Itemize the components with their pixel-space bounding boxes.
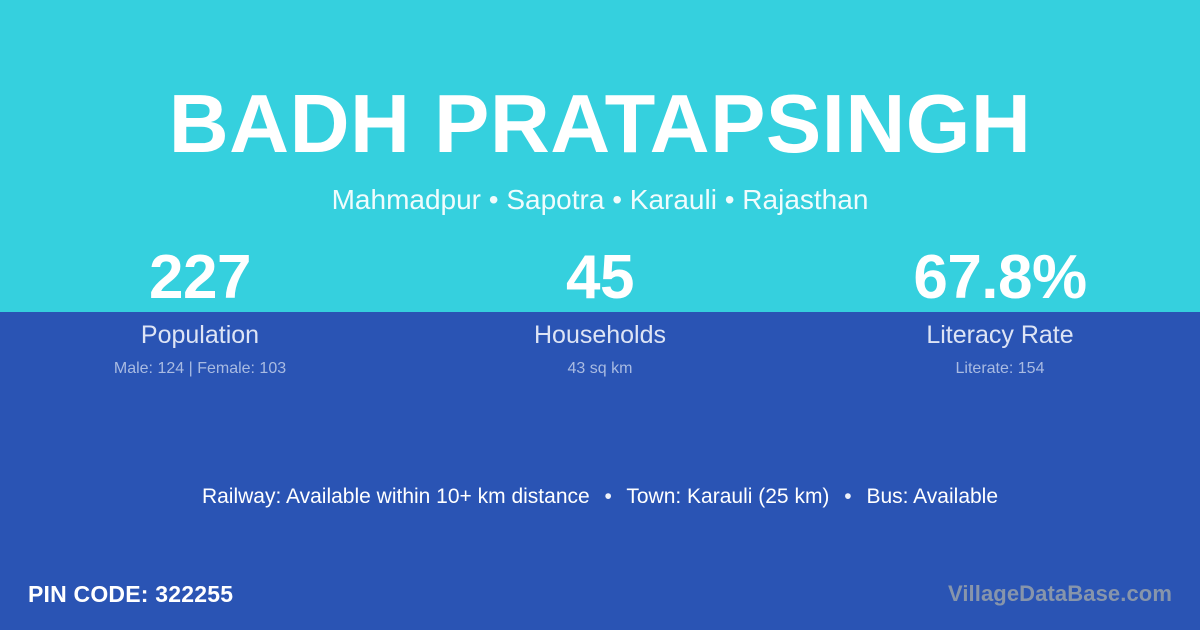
stat-sublabel: Literate: 154 <box>800 360 1200 378</box>
stat-literacy-rate: 67.8% Literacy Rate Literate: 154 <box>800 245 1200 378</box>
amenity-bus: Bus: Available <box>866 485 998 508</box>
page-title: BADH PRATAPSINGH <box>0 82 1200 165</box>
stat-value: 227 <box>0 245 400 312</box>
amenity-separator: • <box>835 485 860 508</box>
amenity-separator: • <box>596 485 621 508</box>
amenities-line: Railway: Available within 10+ km distanc… <box>0 484 1200 509</box>
stat-sublabel: 43 sq km <box>400 360 800 378</box>
stat-population: 227 Population Male: 124 | Female: 103 <box>0 245 400 378</box>
site-brand: VillageDataBase.com <box>948 583 1172 605</box>
stat-households: 45 Households 43 sq km <box>400 245 800 378</box>
stat-label: Population <box>0 322 400 350</box>
pin-code: PIN CODE: 322255 <box>28 583 233 606</box>
stat-sublabel: Male: 124 | Female: 103 <box>0 360 400 378</box>
amenity-nearest-town: Town: Karauli (25 km) <box>626 485 829 508</box>
stat-label: Literacy Rate <box>800 322 1200 350</box>
village-info-card: BADH PRATAPSINGH Mahmadpur • Sapotra • K… <box>0 0 1200 630</box>
stats-row: 227 Population Male: 124 | Female: 103 4… <box>0 245 1200 378</box>
footer: PIN CODE: 322255 VillageDataBase.com <box>0 558 1200 630</box>
location-breadcrumb: Mahmadpur • Sapotra • Karauli • Rajastha… <box>0 182 1200 217</box>
stat-value: 67.8% <box>800 245 1200 312</box>
stat-value: 45 <box>400 245 800 312</box>
stat-label: Households <box>400 322 800 350</box>
amenity-railway: Railway: Available within 10+ km distanc… <box>202 485 590 508</box>
